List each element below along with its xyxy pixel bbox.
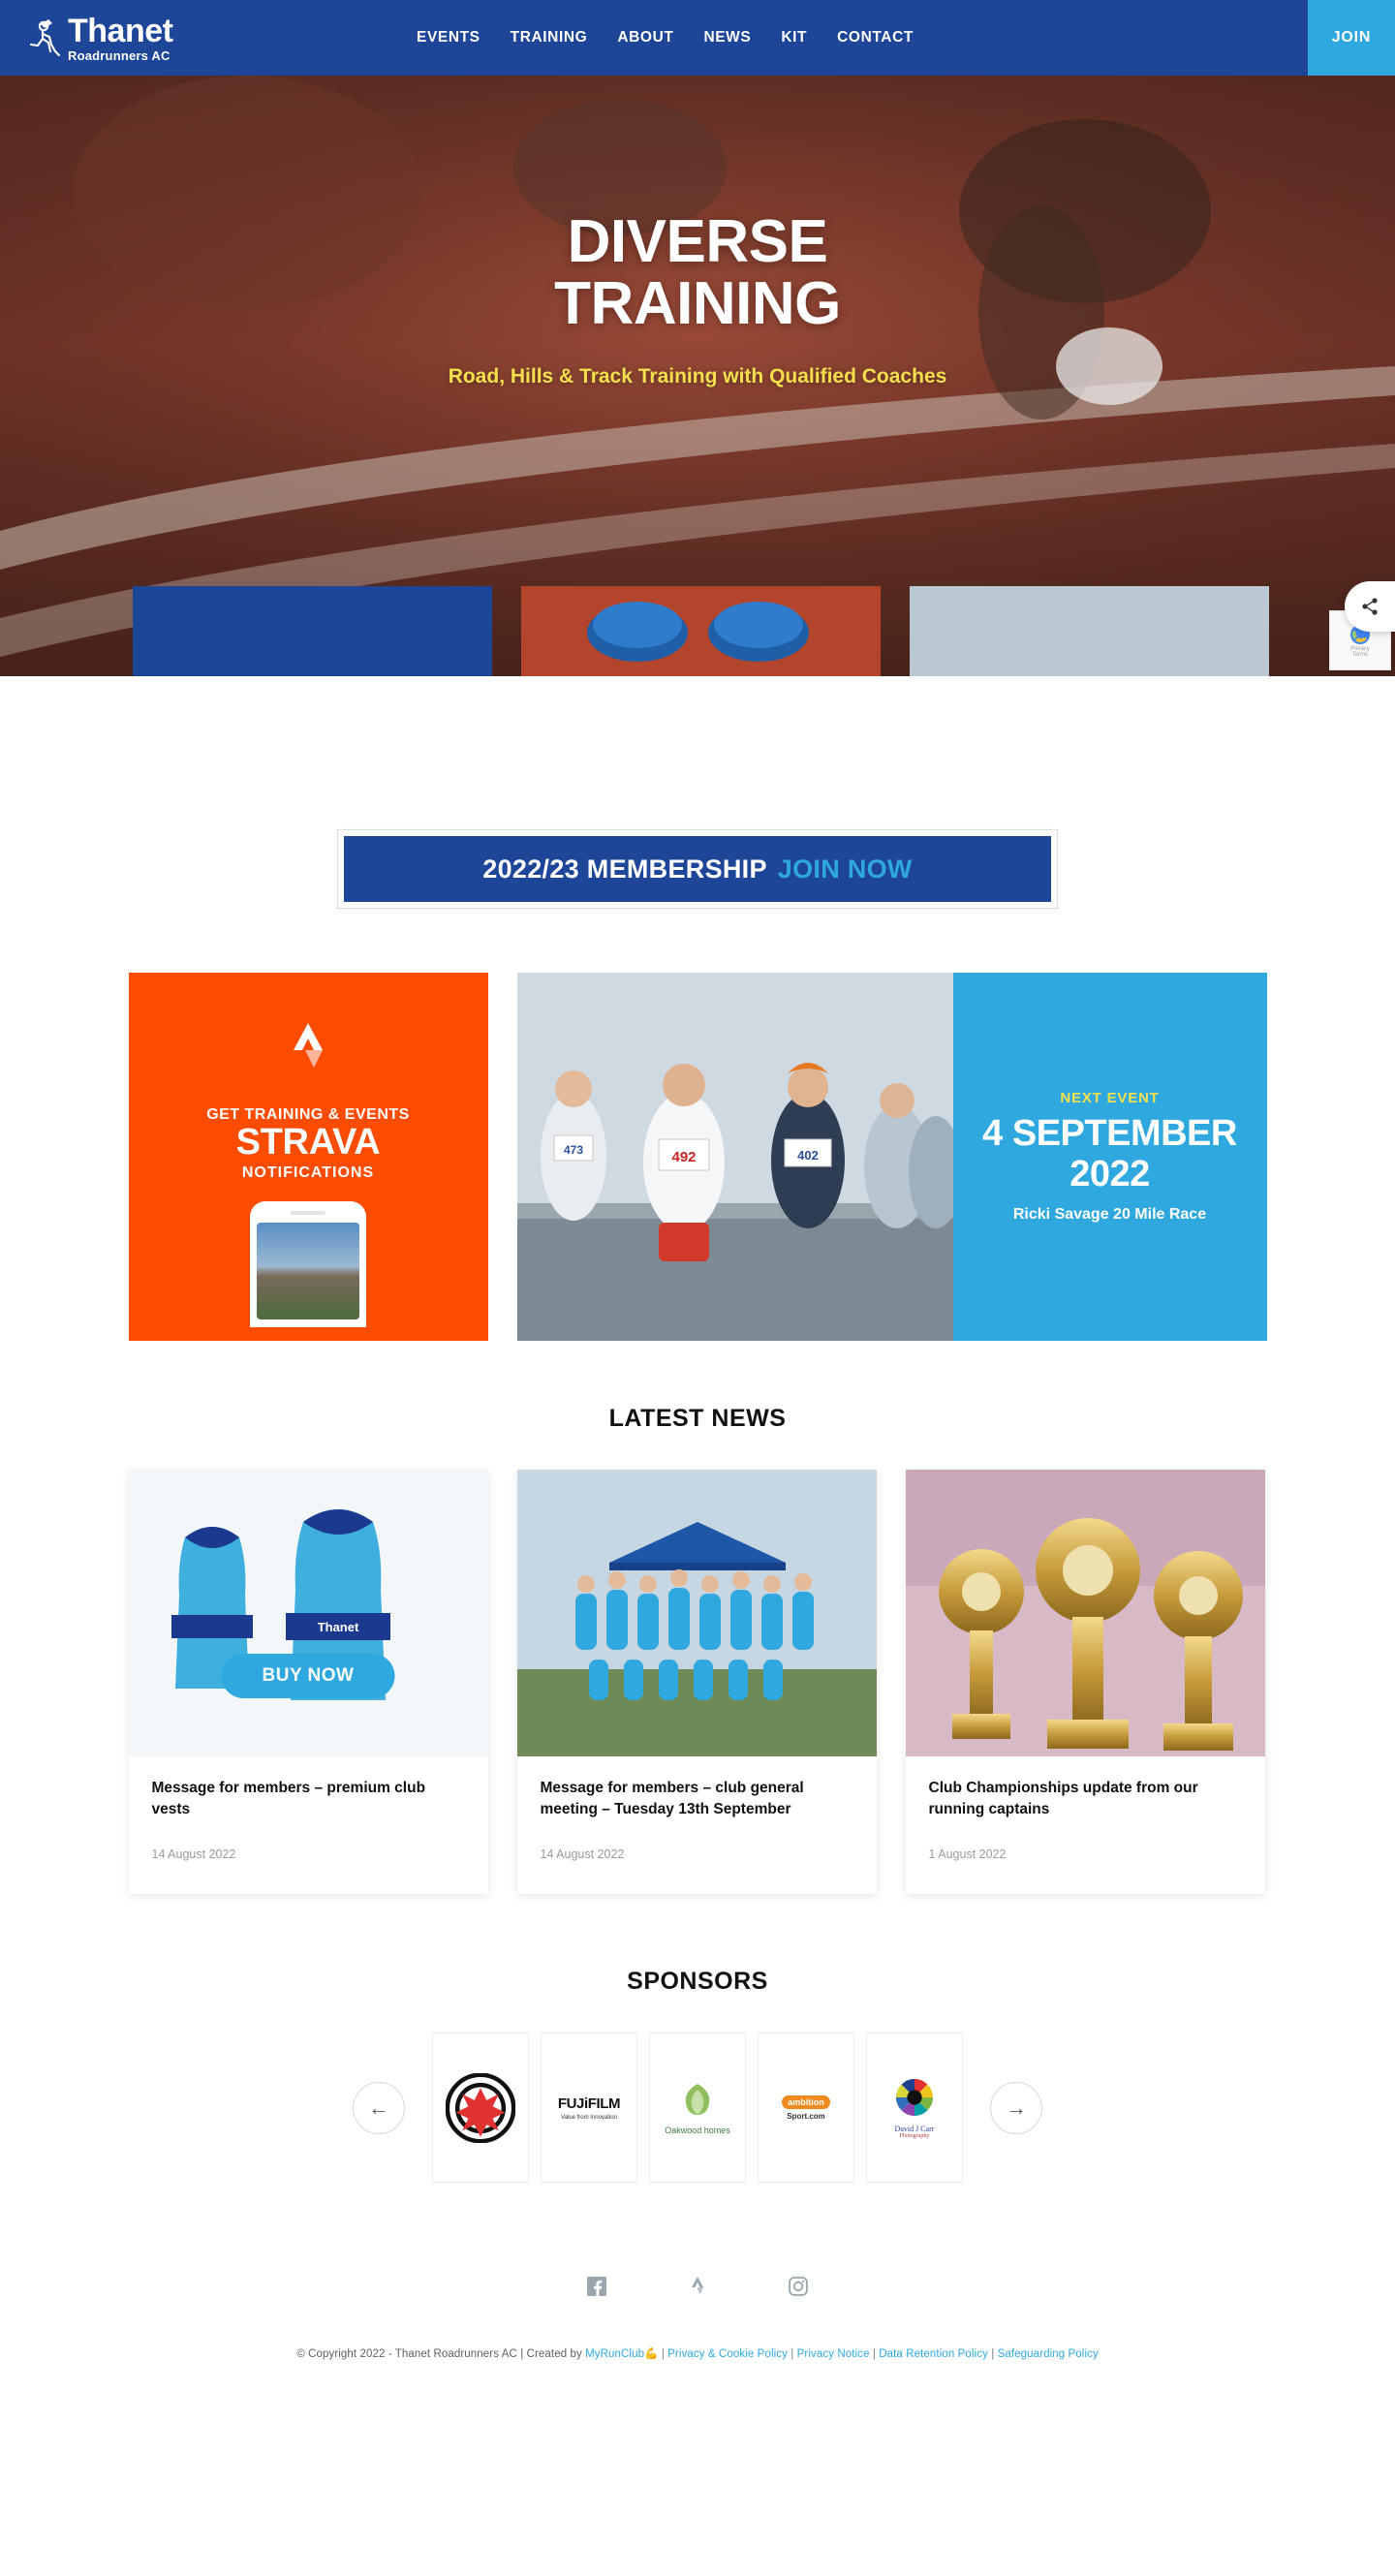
hero-section: DIVERSE TRAINING Road, Hills & Track Tra… [0, 76, 1395, 676]
fujifilm-wordmark: FUJiFILM [558, 2095, 620, 2112]
news-card-body: Message for members – club general meeti… [517, 1756, 877, 1894]
news-title: Message for members – club general meeti… [541, 1778, 853, 1820]
nav-item-training[interactable]: TRAINING [511, 29, 588, 47]
membership-banner-frame: 2022/23 MEMBERSHIP JOIN NOW [337, 829, 1058, 909]
facebook-icon[interactable] [587, 2277, 606, 2301]
logo-title: Thanet [68, 15, 172, 47]
sponsor-logo-oakwood-homes[interactable]: Oakwood homes [649, 2033, 746, 2183]
footer-copyright: © Copyright 2022 - Thanet Roadrunners AC… [0, 2346, 1395, 2360]
nav-item-contact[interactable]: CONTACT [837, 29, 914, 47]
news-date: 14 August 2022 [152, 1847, 465, 1861]
club-group-photo [517, 1470, 877, 1756]
membership-cta: JOIN NOW [778, 854, 913, 885]
next-event-combo: 473 492 402 [517, 973, 1267, 1341]
nav-item-events[interactable]: EVENTS [417, 29, 480, 47]
nav-item-about[interactable]: ABOUT [617, 29, 673, 47]
feature-cards-row: RUN WITH US JOIN NOW T [133, 586, 1271, 676]
news-card-body: Message for members – premium club vests… [129, 1756, 488, 1894]
phone-screenshot [257, 1223, 359, 1319]
news-title: Message for members – premium club vests [152, 1778, 465, 1820]
social-links-row [0, 2276, 1395, 2302]
next-event-date-line-1: 4 SEPTEMBER [982, 1114, 1237, 1154]
sponsors-prev-arrow-icon[interactable]: ← [353, 2082, 405, 2134]
recaptcha-terms-label: Terms [1352, 652, 1368, 658]
nav-item-kit[interactable]: KIT [781, 29, 807, 47]
strava-line-2: STRAVA [236, 1124, 381, 1163]
footer-creator-link[interactable]: MyRunClub [585, 2348, 644, 2360]
footer-creator-emoji: 💪 [644, 2348, 658, 2360]
share-icon [1360, 597, 1379, 616]
svg-text:473: 473 [563, 1143, 582, 1157]
site-header: Thanet Roadrunners AC EVENTS TRAINING AB… [0, 0, 1395, 76]
hero-line-1: DIVERSE [568, 208, 828, 275]
fujifilm-tagline: Value from Innovation [558, 2115, 620, 2121]
next-event-name: Ricki Savage 20 Mile Race [1013, 1206, 1206, 1224]
svg-text:Thanet: Thanet [317, 1620, 358, 1634]
next-event-eyebrow: NEXT EVENT [1060, 1090, 1159, 1106]
sponsors-section: SPONSORS ← FUJiFILM Value from Innovatio… [0, 1968, 1395, 2183]
ambition-wordmark: ambition [782, 2095, 830, 2109]
race-finish-photo: 500 [910, 586, 1269, 676]
page-root: Thanet Roadrunners AC EVENTS TRAINING AB… [0, 0, 1395, 2412]
strava-icon [280, 1019, 336, 1079]
runner-logo-icon [23, 13, 66, 63]
site-logo[interactable]: Thanet Roadrunners AC [0, 13, 417, 63]
david-j-carr-name: David J Carr [894, 2125, 935, 2133]
oakwood-homes-icon [678, 2080, 717, 2119]
strava-event-row: GET TRAINING & EVENTS STRAVA NOTIFICATIO… [129, 973, 1267, 1341]
club-vests-photo: Thanet [129, 1470, 488, 1756]
news-card-body: Club Championships update from our runni… [906, 1756, 1265, 1894]
david-j-carr-tagline: Photography [894, 2133, 935, 2139]
hero-heading: DIVERSE TRAINING [0, 211, 1395, 336]
svg-text:402: 402 [797, 1148, 819, 1163]
hero-content: DIVERSE TRAINING Road, Hills & Track Tra… [0, 76, 1395, 390]
next-event-photo: 473 492 402 [517, 973, 953, 1341]
share-button-top[interactable] [1345, 581, 1395, 632]
strava-icon[interactable] [688, 2276, 707, 2302]
nav-item-news[interactable]: NEWS [703, 29, 751, 47]
sponsor-logo-ambition-sport[interactable]: ambition Sport.com [758, 2033, 854, 2183]
svg-text:492: 492 [671, 1149, 696, 1165]
news-date: 14 August 2022 [541, 1847, 853, 1861]
strava-line-3: NOTIFICATIONS [242, 1164, 374, 1182]
news-card[interactable]: Club Championships update from our runni… [906, 1470, 1265, 1894]
sponsors-track: FUJiFILM Value from Innovation Oakwood h… [432, 2033, 963, 2183]
news-title: Club Championships update from our runni… [929, 1778, 1242, 1820]
hero-line-2: TRAINING [554, 270, 841, 337]
footer-copyright-text: © Copyright 2022 - Thanet Roadrunners AC… [296, 2348, 585, 2360]
next-event-date-line-2: 2022 [1069, 1155, 1150, 1195]
sponsors-next-arrow-icon[interactable]: → [990, 2082, 1042, 2134]
site-footer: © Copyright 2022 - Thanet Roadrunners AC… [0, 2276, 1395, 2412]
footer-separator: | [873, 2348, 876, 2360]
membership-label: 2022/23 MEMBERSHIP [482, 854, 767, 885]
main-navigation: EVENTS TRAINING ABOUT NEWS KIT CONTACT [417, 29, 1308, 47]
trophies-photo [906, 1470, 1265, 1756]
news-image-group [517, 1470, 877, 1756]
news-card[interactable]: Message for members – club general meeti… [517, 1470, 877, 1894]
membership-banner-wrap: 2022/23 MEMBERSHIP JOIN NOW [0, 676, 1395, 909]
header-join-button[interactable]: JOIN [1308, 0, 1395, 76]
footer-link-safeguarding-policy[interactable]: Safeguarding Policy [998, 2348, 1099, 2360]
news-cards-row: Thanet BUY NOW Message for members – pre… [129, 1470, 1267, 1894]
race-runners-photo: 473 492 402 [517, 973, 953, 1341]
latest-news-heading: LATEST NEWS [0, 1405, 1395, 1433]
latest-news-section: LATEST NEWS [0, 1405, 1395, 1894]
instagram-icon[interactable] [789, 2277, 808, 2301]
footer-separator: | [991, 2348, 994, 2360]
footer-separator: | [790, 2348, 793, 2360]
footer-link-data-retention-policy[interactable]: Data Retention Policy [879, 2348, 988, 2360]
footer-link-privacy-cookie-policy[interactable]: Privacy & Cookie Policy [667, 2348, 788, 2360]
buy-now-button[interactable]: BUY NOW [222, 1654, 395, 1698]
news-date: 1 August 2022 [929, 1847, 1242, 1861]
feature-card-photo[interactable]: 500 [910, 586, 1269, 676]
sponsor-logo-margate-ambulance-corps[interactable] [432, 2033, 529, 2183]
strava-promo-card[interactable]: GET TRAINING & EVENTS STRAVA NOTIFICATIO… [129, 973, 488, 1341]
news-image-vests: Thanet BUY NOW [129, 1470, 488, 1756]
footer-link-privacy-notice[interactable]: Privacy Notice [797, 2348, 870, 2360]
logo-subtitle: Roadrunners AC [68, 49, 172, 62]
oakwood-homes-wordmark: Oakwood homes [665, 2126, 730, 2135]
sport-com-wordmark: Sport.com [782, 2112, 830, 2121]
membership-banner[interactable]: 2022/23 MEMBERSHIP JOIN NOW [344, 836, 1051, 902]
sponsor-logo-david-j-carr-photography[interactable]: David J Carr Photography [866, 2033, 963, 2183]
run-card-line-1: RUN [253, 674, 372, 676]
sponsors-heading: SPONSORS [0, 1968, 1395, 1996]
next-event-box[interactable]: NEXT EVENT 4 SEPTEMBER 2022 Ricki Savage… [953, 973, 1267, 1341]
phone-mockup [250, 1201, 366, 1327]
footer-separator: | [662, 2348, 665, 2360]
news-image-trophies [906, 1470, 1265, 1756]
feature-card-training[interactable]: TRAINING WHEN & WHERE [521, 586, 881, 676]
margate-ambulance-corps-icon [446, 2073, 515, 2143]
training-card-image [521, 586, 881, 676]
hero-subtitle: Road, Hills & Track Training with Qualif… [446, 363, 949, 390]
david-j-carr-colour-wheel-icon [894, 2077, 935, 2118]
news-card[interactable]: Thanet BUY NOW Message for members – pre… [129, 1470, 488, 1894]
sponsors-carousel: ← FUJiFILM Value from Innovation [129, 2033, 1267, 2183]
phone-notch [291, 1211, 325, 1215]
sponsor-logo-fujifilm[interactable]: FUJiFILM Value from Innovation [541, 2033, 637, 2183]
feature-card-run-with-us[interactable]: RUN WITH US JOIN NOW [133, 586, 492, 676]
